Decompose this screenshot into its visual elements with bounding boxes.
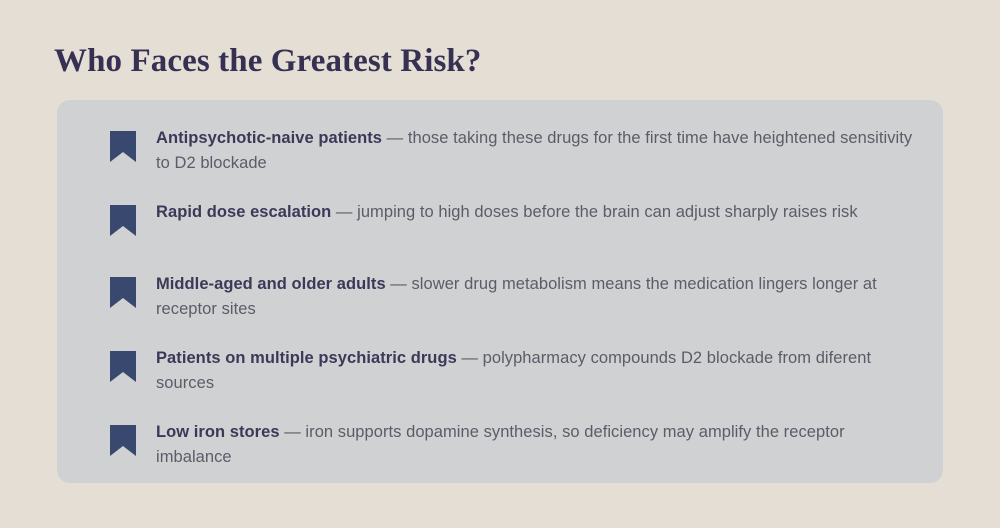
list-item-text: Low iron stores — iron supports dopamine… [156,423,845,466]
list-item: Middle-aged and older adults — slower dr… [110,272,913,322]
list-item-lead: Rapid dose escalation [156,203,331,221]
risk-factors-card: Antipsychotic-naive patients — those tak… [57,100,943,483]
list-item-text: Antipsychotic-naive patients — those tak… [156,129,912,172]
list-item-text: Middle-aged and older adults — slower dr… [156,275,877,318]
page-title: Who Faces the Greatest Risk? [54,43,481,80]
list-item: Patients on multiple psychiatric drugs —… [110,346,913,396]
list-item-lead: Antipsychotic-naive patients [156,129,382,147]
list-item: Rapid dose escalation — jumping to high … [110,200,913,248]
list-item-lead: Middle-aged and older adults [156,275,386,293]
bookmark-icon [110,425,136,456]
list-item: Antipsychotic-naive patients — those tak… [110,126,913,176]
bookmark-icon [110,131,136,162]
list-item-lead: Patients on multiple psychiatric drugs [156,349,457,367]
slide-root: Who Faces the Greatest Risk? Antipsychot… [0,0,1000,528]
bookmark-icon [110,205,136,236]
bookmark-icon [110,351,136,382]
list-item-text: Rapid dose escalation — jumping to high … [156,203,858,221]
list-item-detail: — jumping to high doses before the brain… [331,203,857,221]
bookmark-icon [110,277,136,308]
risk-factor-list: Antipsychotic-naive patients — those tak… [110,126,913,470]
list-item-lead: Low iron stores [156,423,280,441]
list-item: Low iron stores — iron supports dopamine… [110,420,913,470]
list-item-text: Patients on multiple psychiatric drugs —… [156,349,871,392]
